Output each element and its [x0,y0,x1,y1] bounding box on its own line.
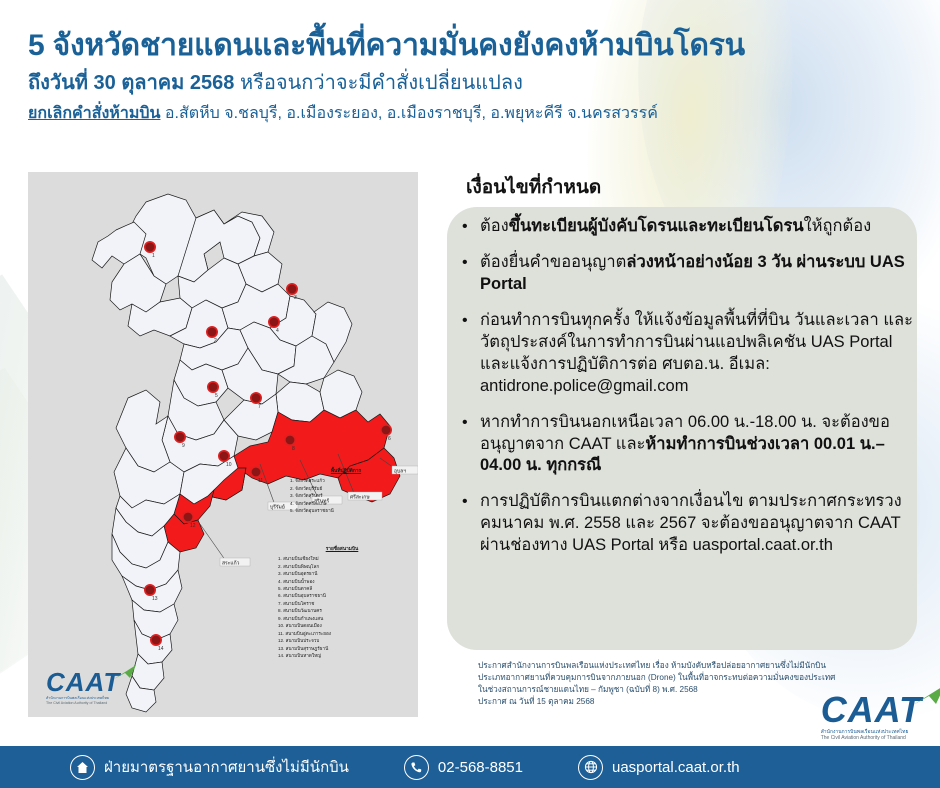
conditions-title: เงื่อนไขที่กำหนด [466,172,601,202]
legend-item: 11. สนามบินอู่ตะเภาระยอง [278,630,406,637]
footer-bar: ฝ่ายมาตรฐานอากาศยานซึ่งไม่มีนักบิน 02-56… [0,746,940,788]
condition-text-plain: การปฏิบัติการบินแตกต่างจากเงื่อนไข ตามปร… [480,492,902,554]
condition-text: ก่อนทำการบินทุกครั้ง ให้แจ้งข้อมูลพื้นที… [480,310,914,398]
header: 5 จังหวัดชายแดนและพื้นที่ความมั่นคงยังคง… [28,28,920,125]
map-legend-airports: รายชื่อสนามบิน 1. สนามบินเชียงใหม่ 2. สน… [278,546,406,659]
legend-list-areas: 1. จังหวัดสระแก้ว 2. จังหวัดบุรีรัมย์ 3.… [290,477,402,514]
svg-text:11: 11 [258,478,263,484]
page-title: 5 จังหวัดชายแดนและพื้นที่ความมั่นคงยังคง… [28,28,920,63]
footer-label: 02-568-8851 [438,759,523,776]
caat-swoosh-icon [113,665,137,681]
map-legend-operation-areas: พื้นที่ปฏิบัติการ 1. จังหวัดสระแก้ว 2. จ… [290,468,402,514]
condition-text-plain: ให้ถูกต้อง [804,217,872,235]
legend-item: 9. สนามบินกำแพงแสน [278,615,406,622]
legend-item: 5. สนามบินตาคลี [278,585,406,592]
legend-item: 2. สนามบินพิษณุโลก [278,563,406,570]
footer-label: ฝ่ายมาตรฐานอากาศยานซึ่งไม่มีนักบิน [104,755,349,779]
condition-item: •ต้องยื่นคำขออนุญาตล่วงหน้าอย่างน้อย 3 ว… [462,252,914,296]
svg-text:5: 5 [215,393,218,399]
infographic-page: 5 จังหวัดชายแดนและพื้นที่ความมั่นคงยังคง… [0,0,940,788]
phone-icon [404,755,429,780]
bullet-icon: • [462,216,480,237]
svg-text:13: 13 [152,596,158,602]
header-subtitle-date: ถึงวันที่ 30 ตุลาคม 2568 [28,72,234,94]
legend-item: 6. สนามบินอุบลราชธานี [278,592,406,599]
svg-text:10: 10 [226,462,232,468]
footnote-line-2: ประเภทอากาศยานที่ควบคุมการบินจากภายนอก (… [478,672,908,684]
condition-text: การปฏิบัติการบินแตกต่างจากเงื่อนไข ตามปร… [480,491,914,557]
legend-item: 12. สนามบินประจวบ [278,637,406,644]
caat-wordmark: CAAT [821,692,922,728]
legend-item: 1. สนามบินเชียงใหม่ [278,555,406,562]
bullet-icon: • [462,412,480,433]
condition-text-emphasis: ขึ้นทะเบียนผู้บังคับโดรนและทะเบียนโดรน [509,217,804,235]
condition-text: ต้องยื่นคำขออนุญาตล่วงหน้าอย่างน้อย 3 วั… [480,252,914,296]
footnote-line-1: ประกาศสำนักงานการบินพลเรือนแห่งประเทศไทย… [478,660,908,672]
svg-text:6: 6 [388,436,391,442]
legend-title-areas: พื้นที่ปฏิบัติการ [290,468,402,476]
svg-text:14: 14 [158,646,164,652]
condition-text: หากทำการบินนอกเหนือเวลา 06.00 น.-18.00 น… [480,412,914,478]
header-subtitle-rest: หรือจนกว่าจะมีคำสั่งเปลี่ยนแปลง [234,72,522,94]
caat-subtitle-english: The Civil Aviation Authority of Thailand [46,701,120,705]
svg-text:3: 3 [294,295,297,301]
globe-icon [578,755,603,780]
condition-text: ต้องขึ้นทะเบียนผู้บังคับโดรนและทะเบียนโด… [480,216,914,238]
caat-logo-map: CAAT สำนักงานการบินพลเรือนแห่งประเทศไทย … [46,669,120,705]
svg-text:7: 7 [258,404,261,410]
home-icon [70,755,95,780]
condition-text-plain: ต้องยื่นคำขออนุญาต [480,253,626,271]
svg-text:2: 2 [214,338,217,344]
legend-item: 8. สนามบินวัฒนานคร [278,607,406,614]
legend-item: 4. จังหวัดศรีสะเกษ [290,500,402,507]
footer-label: uasportal.caat.or.th [612,759,740,776]
legend-item: 10. สนามบินดอนเมือง [278,622,406,629]
bullet-icon: • [462,491,480,512]
header-subtitle: ถึงวันที่ 30 ตุลาคม 2568 หรือจนกว่าจะมีค… [28,70,920,96]
legend-item: 5. จังหวัดอุบลราชธานี [290,507,402,514]
caat-subtitle-english: The Civil Aviation Authority of Thailand [821,735,922,741]
legend-title-airports: รายชื่อสนามบิน [278,546,406,554]
svg-text:1: 1 [152,253,155,259]
condition-item: •ต้องขึ้นทะเบียนผู้บังคับโดรนและทะเบียนโ… [462,216,914,238]
legend-list-airports: 1. สนามบินเชียงใหม่ 2. สนามบินพิษณุโลก 3… [278,555,406,659]
conditions-list: •ต้องขึ้นทะเบียนผู้บังคับโดรนและทะเบียนโ… [462,216,914,571]
svg-text:12: 12 [190,523,196,529]
legend-item: 13. สนามบินสุราษฎร์ธานี [278,645,406,652]
condition-item: •หากทำการบินนอกเหนือเวลา 06.00 น.-18.00 … [462,412,914,478]
header-revocation-areas: อ.สัตหีบ จ.ชลบุรี, อ.เมืองระยอง, อ.เมือง… [160,105,657,122]
condition-item: •ก่อนทำการบินทุกครั้ง ให้แจ้งข้อมูลพื้นท… [462,310,914,398]
bullet-icon: • [462,310,480,331]
caat-logo-footer: CAAT สำนักงานการบินพลเรือนแห่งประเทศไทย … [821,692,922,742]
footer-item-department[interactable]: ฝ่ายมาตรฐานอากาศยานซึ่งไม่มีนักบิน [70,755,349,780]
footer-item-website[interactable]: uasportal.caat.or.th [578,755,740,780]
legend-item: 4. สนามบินน้ำพอง [278,578,406,585]
legend-item: 2. จังหวัดบุรีรัมย์ [290,485,402,492]
legend-item: 1. จังหวัดสระแก้ว [290,477,402,484]
legend-item: 7. สนามบินโคราช [278,600,406,607]
map-label-sakaeo: สระแก้ว [222,560,240,567]
map-label-buriram: บุรีรัมย์ [270,504,285,511]
condition-text-plain: ต้อง [480,217,509,235]
map-panel: สระแก้ว บุรีรัมย์ สุรินทร์ ศรีสะเกษ อุบล… [28,172,418,717]
bullet-icon: • [462,252,480,273]
legend-item: 3. สนามบินอุดรธานี [278,570,406,577]
caat-wordmark: CAAT [46,669,120,695]
legend-item: 3. จังหวัดสุรินทร์ [290,492,402,499]
svg-text:8: 8 [292,446,295,452]
condition-text-plain: ก่อนทำการบินทุกครั้ง ให้แจ้งข้อมูลพื้นที… [480,311,913,395]
svg-text:9: 9 [182,443,185,449]
header-revocation-label: ยกเลิกคำสั่งห้ามบิน [28,105,160,122]
header-revocation-line: ยกเลิกคำสั่งห้ามบิน อ.สัตหีบ จ.ชลบุรี, อ… [28,104,920,125]
footer-item-phone[interactable]: 02-568-8851 [404,755,523,780]
caat-swoosh-icon [912,685,940,708]
legend-item: 14. สนามบินหาดใหญ่ [278,652,406,659]
svg-text:4: 4 [276,328,279,334]
condition-item: •การปฏิบัติการบินแตกต่างจากเงื่อนไข ตามป… [462,491,914,557]
